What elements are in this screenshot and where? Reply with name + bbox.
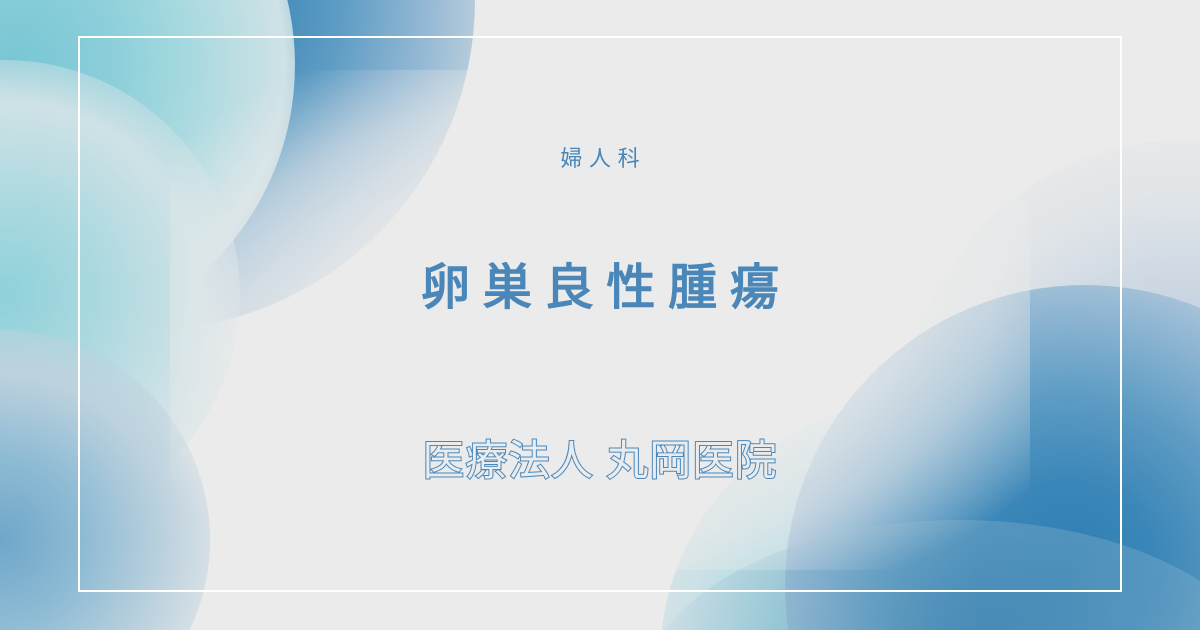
title-card-canvas: 婦人科 卵巣良性腫瘍 医療法人 丸岡医院 xyxy=(0,0,1200,630)
title-card-content: 婦人科 卵巣良性腫瘍 医療法人 丸岡医院 xyxy=(0,0,1200,630)
clinic-name: 医療法人 丸岡医院 xyxy=(422,437,777,485)
page-title: 卵巣良性腫瘍 xyxy=(408,262,791,316)
category-label: 婦人科 xyxy=(554,146,646,172)
